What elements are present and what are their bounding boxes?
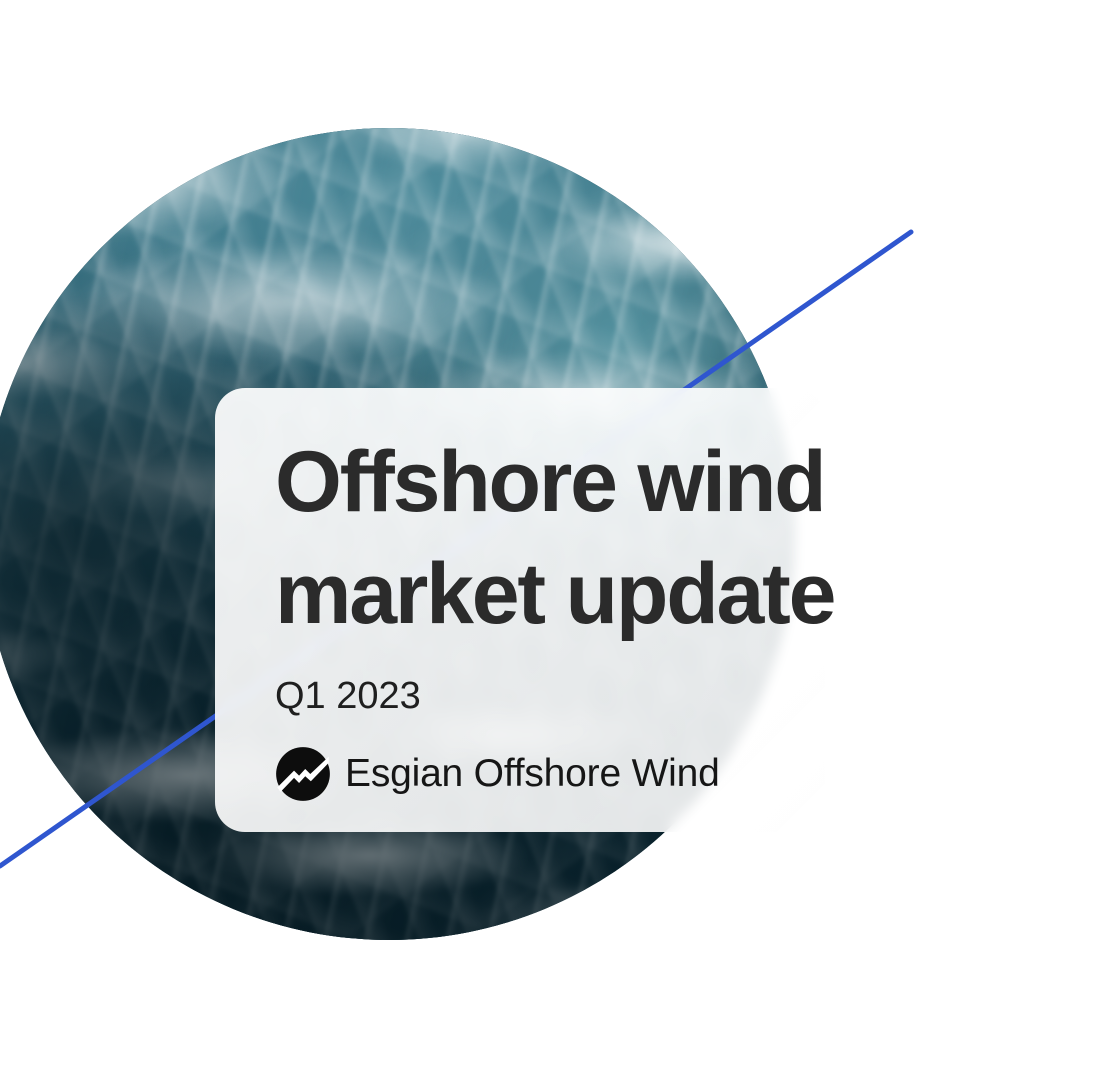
brand-lockup: Esgian Offshore Wind <box>275 746 825 802</box>
page-title-line-2: market update <box>275 538 825 650</box>
esgian-bolt-logo-icon <box>275 746 331 802</box>
slide-canvas: Offshore wind market update Q1 2023 Esgi… <box>0 0 1099 1074</box>
title-card: Offshore wind market update Q1 2023 Esgi… <box>215 388 825 832</box>
page-subtitle: Q1 2023 <box>275 674 825 718</box>
page-title: Offshore wind market update <box>275 426 825 650</box>
brand-name: Esgian Offshore Wind <box>345 751 720 797</box>
page-title-line-1: Offshore wind <box>275 426 825 538</box>
